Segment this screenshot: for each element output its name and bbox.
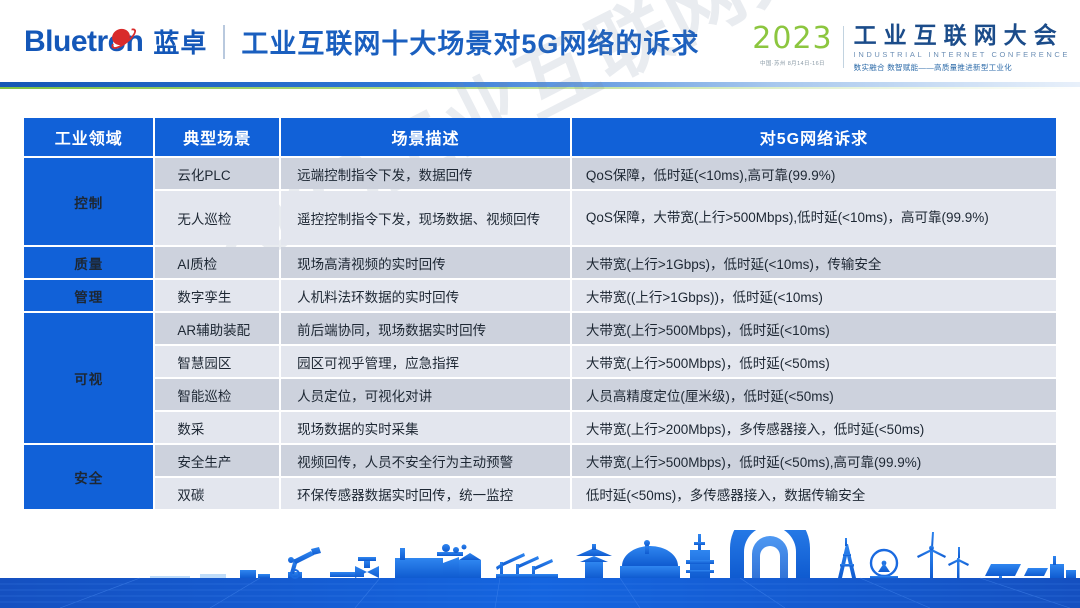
table-header-row: 工业领域 典型场景 场景描述 对5G网络诉求	[24, 118, 1056, 156]
cell-scene: 安全生产	[155, 445, 279, 476]
table-row: 双碳环保传感器数据实时回传，统一监控低时延(<50ms)，多传感器接入，数据传输…	[24, 478, 1056, 509]
table-row: 数采现场数据的实时采集大带宽(上行>200Mbps)，多传感器接入，低时延(<5…	[24, 412, 1056, 443]
cell-scene: 双碳	[155, 478, 279, 509]
cell-description: 现场高清视频的实时回传	[281, 247, 570, 278]
table-row: 控制云化PLC远端控制指令下发，数据回传QoS保障，低时延(<10ms),高可靠…	[24, 158, 1056, 189]
cell-domain: 质量	[24, 247, 153, 278]
cell-requirement: 大带宽(上行>500Mbps)，低时延(<50ms)	[572, 346, 1056, 377]
slide-root: Bluetron 蓝卓 工业互联网十大场景对5G网络的诉求 2023 中国·苏州…	[0, 0, 1080, 608]
conference-slogan: 数实融合 数智赋能——高质量推进新型工业化	[854, 62, 1070, 73]
table-row: 质量AI质检现场高清视频的实时回传大带宽(上行>1Gbps)，低时延(<10ms…	[24, 247, 1056, 278]
cell-domain: 控制	[24, 158, 153, 245]
scenarios-table-wrap: 工业领域 典型场景 场景描述 对5G网络诉求 控制云化PLC远端控制指令下发，数…	[22, 116, 1058, 511]
conference-name-block: 工业互联网大会 INDUSTRIAL INTERNET CONFERENCE 数…	[844, 24, 1070, 73]
cell-scene: 智能巡检	[155, 379, 279, 410]
header-rule-green	[0, 87, 1080, 89]
brand-logo: Bluetron 蓝卓 工业互联网十大场景对5G网络的诉求	[24, 22, 699, 61]
cell-requirement: QoS保障，低时延(<10ms),高可靠(99.9%)	[572, 158, 1056, 189]
cell-scene: 云化PLC	[155, 158, 279, 189]
cell-description: 视频回传，人员不安全行为主动预警	[281, 445, 570, 476]
cell-description: 遥控控制指令下发，现场数据、视频回传	[281, 191, 570, 245]
cell-domain: 管理	[24, 280, 153, 311]
slide-header: Bluetron 蓝卓 工业互联网十大场景对5G网络的诉求 2023 中国·苏州…	[0, 0, 1080, 92]
table-row: 可视AR辅助装配前后端协同，现场数据实时回传大带宽(上行>500Mbps)，低时…	[24, 313, 1056, 344]
col-header-domain: 工业领域	[24, 118, 153, 156]
cell-description: 人员定位，可视化对讲	[281, 379, 570, 410]
conference-year-block: 2023 中国·苏州 8月14日-16日	[752, 24, 842, 67]
cell-scene: 无人巡检	[155, 191, 279, 245]
conference-logo: 2023 中国·苏州 8月14日-16日 工业互联网大会 INDUSTRIAL …	[752, 24, 1070, 73]
cell-description: 前后端协同，现场数据实时回传	[281, 313, 570, 344]
conference-name-en: INDUSTRIAL INTERNET CONFERENCE	[854, 50, 1070, 59]
cell-description: 环保传感器数据实时回传，统一监控	[281, 478, 570, 509]
cell-scene: 数字孪生	[155, 280, 279, 311]
cell-description: 人机料法环数据的实时回传	[281, 280, 570, 311]
page-title: 工业互联网十大场景对5G网络的诉求	[241, 22, 699, 61]
scenarios-table: 工业领域 典型场景 场景描述 对5G网络诉求 控制云化PLC远端控制指令下发，数…	[22, 116, 1058, 511]
cell-domain: 可视	[24, 313, 153, 443]
conference-date: 中国·苏州 8月14日-16日	[752, 59, 832, 67]
cell-requirement: 大带宽(上行>500Mbps)，低时延(<50ms),高可靠(99.9%)	[572, 445, 1056, 476]
footer-skyline	[0, 530, 1080, 608]
table-row: 智慧园区园区可视乎管理，应急指挥大带宽(上行>500Mbps)，低时延(<50m…	[24, 346, 1056, 377]
cell-scene: 数采	[155, 412, 279, 443]
cell-requirement: 低时延(<50ms)，多传感器接入，数据传输安全	[572, 478, 1056, 509]
cell-description: 园区可视乎管理，应急指挥	[281, 346, 570, 377]
table-row: 安全安全生产视频回传，人员不安全行为主动预警大带宽(上行>500Mbps)，低时…	[24, 445, 1056, 476]
conference-name-cn: 工业互联网大会	[854, 24, 1070, 47]
cell-description: 远端控制指令下发，数据回传	[281, 158, 570, 189]
table-body: 控制云化PLC远端控制指令下发，数据回传QoS保障，低时延(<10ms),高可靠…	[24, 158, 1056, 509]
cell-scene: AI质检	[155, 247, 279, 278]
cell-scene: AR辅助装配	[155, 313, 279, 344]
cell-requirement: 大带宽(上行>500Mbps)，低时延(<10ms)	[572, 313, 1056, 344]
cell-description: 现场数据的实时采集	[281, 412, 570, 443]
cell-requirement: 大带宽(上行>1Gbps)，低时延(<10ms)，传输安全	[572, 247, 1056, 278]
cell-domain: 安全	[24, 445, 153, 509]
col-header-description: 场景描述	[281, 118, 570, 156]
col-header-requirement: 对5G网络诉求	[572, 118, 1056, 156]
header-divider	[223, 25, 225, 59]
cell-requirement: QoS保障，大带宽(上行>500Mbps),低时延(<10ms)，高可靠(99.…	[572, 191, 1056, 245]
col-header-scene: 典型场景	[155, 118, 279, 156]
conference-year: 2023	[752, 24, 832, 54]
table-row: 无人巡检遥控控制指令下发，现场数据、视频回传QoS保障，大带宽(上行>500Mb…	[24, 191, 1056, 245]
table-row: 智能巡检人员定位，可视化对讲人员高精度定位(厘米级)，低时延(<50ms)	[24, 379, 1056, 410]
cell-requirement: 人员高精度定位(厘米级)，低时延(<50ms)	[572, 379, 1056, 410]
skyline-illustration	[0, 530, 1080, 608]
brand-logo-cn: 蓝卓	[153, 23, 207, 60]
cell-requirement: 大带宽((上行>1Gbps))，低时延(<10ms)	[572, 280, 1056, 311]
table-row: 管理数字孪生人机料法环数据的实时回传大带宽((上行>1Gbps))，低时延(<1…	[24, 280, 1056, 311]
cell-scene: 智慧园区	[155, 346, 279, 377]
cell-requirement: 大带宽(上行>200Mbps)，多传感器接入，低时延(<50ms)	[572, 412, 1056, 443]
